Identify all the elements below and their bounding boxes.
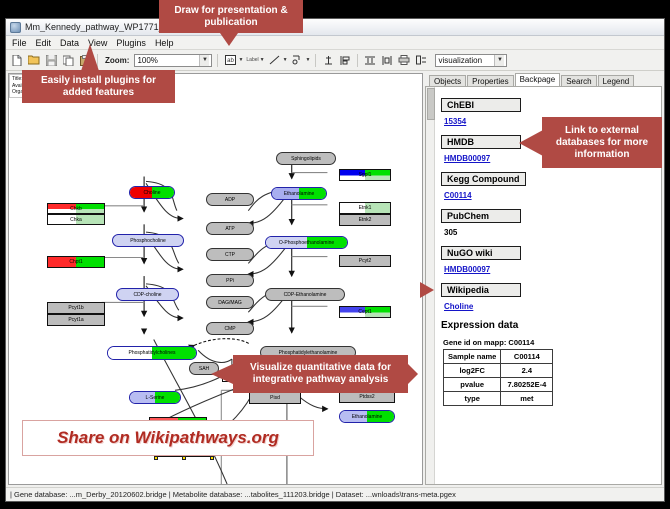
selection-handle[interactable]: [210, 456, 214, 460]
label-box-icon[interactable]: ab: [223, 53, 237, 67]
node-label: CTP: [207, 252, 253, 258]
tab-properties[interactable]: Properties: [467, 75, 513, 86]
node-pcyt2[interactable]: Pcyt2: [339, 255, 391, 267]
annotation-link-pointer: [519, 130, 543, 156]
annotation-expression-pointer: [420, 282, 434, 298]
new-file-icon[interactable]: [10, 53, 24, 67]
node-label: Etnk1: [340, 205, 390, 211]
node-label: Sphingolipids: [277, 156, 335, 162]
db-header-wikipedia: Wikipedia: [441, 283, 521, 297]
node-phosphocholine[interactable]: Phosphocholine: [112, 234, 184, 247]
chevron-down-icon[interactable]: ▼: [260, 57, 265, 63]
db-link-nugo-wiki[interactable]: HMDB00097: [444, 265, 655, 274]
node-label: ATP: [207, 226, 253, 232]
title-bar: Mm_Kennedy_pathway_WP1771_45176.gpml: [6, 19, 664, 36]
menu-item-plugins[interactable]: Plugins: [116, 38, 146, 48]
node-o-phosphoethanolamine[interactable]: O-Phosphoethanolamine: [265, 236, 348, 249]
tab-objects[interactable]: Objects: [429, 75, 466, 86]
node-sgpl1[interactable]: Sgpl1: [339, 169, 391, 181]
node-ppi[interactable]: PPi: [206, 274, 254, 287]
node-pcyt1b[interactable]: Pcyt1b: [47, 302, 105, 314]
db-value-pubchem: 305: [444, 228, 655, 237]
node-label: O-Phosphoethanolamine: [266, 240, 347, 246]
node-label: Pcyt1a: [48, 317, 104, 323]
node-label: Pcyt2: [340, 258, 390, 264]
chevron-down-icon[interactable]: ▼: [494, 55, 504, 66]
save-icon[interactable]: [44, 53, 58, 67]
interaction-icon[interactable]: [291, 53, 305, 67]
node-label: Choline: [130, 190, 174, 196]
db-header-pubchem: PubChem: [441, 209, 521, 223]
node-cept1[interactable]: Cept1: [339, 306, 391, 318]
node-label: Pcyt1b: [48, 305, 104, 311]
zoom-label: Zoom:: [105, 56, 129, 65]
distribute-vertical-icon[interactable]: [363, 53, 377, 67]
tab-search[interactable]: Search: [561, 75, 596, 86]
status-bar: | Gene database: ...m_Derby_20120602.bri…: [6, 487, 664, 501]
node-label: CMP: [207, 326, 253, 332]
node-label: Sgpl1: [340, 172, 390, 178]
node-cdp-choline[interactable]: CDP-choline: [116, 288, 179, 301]
chevron-down-icon[interactable]: ▼: [306, 57, 311, 63]
node-label: ADP: [207, 197, 253, 203]
open-folder-icon[interactable]: [27, 53, 41, 67]
annotation-plugins-pointer: [81, 44, 99, 71]
node-chpt1[interactable]: Chpt1: [47, 256, 105, 268]
toolbar-separator: [217, 54, 218, 67]
distribute-horizontal-icon[interactable]: [380, 53, 394, 67]
node-label: CDP-Ethanolamine: [266, 292, 344, 298]
node-label: PPi: [207, 278, 253, 284]
node-adp[interactable]: ADP: [206, 193, 254, 206]
layout-icon[interactable]: [414, 53, 428, 67]
selection-handle[interactable]: [154, 456, 158, 460]
annotation-link: Link to external databases for more info…: [542, 117, 662, 168]
node-pcyt1a[interactable]: Pcyt1a: [47, 314, 105, 326]
db-header-kegg-compound: Kegg Compound: [441, 172, 526, 186]
node-label: CDP-choline: [117, 292, 178, 298]
annotation-share: Share on Wikipathways.org: [22, 420, 314, 456]
node-ethanolamine-bottom[interactable]: Ethanolamine: [339, 410, 395, 423]
annotation-visualize: Visualize quantitative data for integrat…: [233, 355, 408, 393]
cell-label: log2FC: [444, 364, 501, 378]
app-icon: [10, 22, 21, 33]
db-link-kegg-compound[interactable]: C00114: [444, 191, 655, 200]
selection-handle[interactable]: [182, 456, 186, 460]
node-etnk2[interactable]: Etnk2: [339, 214, 391, 226]
node-cdp-ethanolamine[interactable]: CDP-Ethanolamine: [265, 288, 345, 301]
expression-data-title: Expression data: [441, 320, 655, 331]
annotation-visualize-pointer: [211, 364, 233, 384]
status-text: | Gene database: ...m_Derby_20120602.bri…: [10, 490, 456, 499]
node-label: Etnk2: [340, 217, 390, 223]
annotation-plugins: Easily install plugins for added feature…: [22, 70, 175, 103]
node-choline-top[interactable]: Choline: [129, 186, 175, 199]
cell-label: pvalue: [444, 378, 501, 392]
cell-value: C00114: [501, 350, 553, 364]
expression-table: Sample name C00114 log2FC 2.4 pvalue 7.8…: [443, 349, 553, 406]
anchor-icon[interactable]: [321, 53, 335, 67]
menu-item-help[interactable]: Help: [155, 38, 174, 48]
node-label: Ethanolamine: [340, 414, 394, 420]
table-row: type met: [444, 392, 553, 406]
line-icon[interactable]: [268, 53, 282, 67]
svg-text:ab: ab: [227, 58, 234, 64]
shape-tool[interactable]: ab ▼: [223, 53, 243, 67]
node-label: Ptdss2: [340, 394, 394, 400]
table-row: Sample name C00114: [444, 350, 553, 364]
label-text-icon: Label: [246, 57, 258, 63]
menu-bar: File Edit Data View Plugins Help: [6, 36, 664, 50]
zoom-value: 100%: [137, 56, 199, 65]
node-label: Phosphocholine: [113, 238, 183, 244]
interaction-tool[interactable]: ▼: [291, 53, 311, 67]
cell-value: 7.80252E-4: [501, 378, 553, 392]
cell-value: met: [501, 392, 553, 406]
db-header-chebi: ChEBI: [441, 98, 521, 112]
tab-backpage[interactable]: Backpage: [515, 73, 561, 86]
align-left-icon[interactable]: [338, 53, 352, 67]
sidebar-tabs: Objects Properties Backpage Search Legen…: [425, 73, 662, 86]
label-tool[interactable]: Label ▼: [246, 57, 264, 63]
node-pisd[interactable]: Pisd: [249, 392, 301, 404]
visualization-combo[interactable]: visualization ▼: [435, 54, 507, 67]
toolbar-separator: [357, 54, 358, 67]
chevron-down-icon[interactable]: ▼: [283, 57, 288, 63]
menu-item-data[interactable]: Data: [60, 38, 79, 48]
node-label: Cept1: [340, 309, 390, 315]
annotation-draw-pointer: [220, 33, 238, 46]
db-header-nugo-wiki: NuGO wiki: [441, 246, 521, 260]
menu-item-file[interactable]: File: [12, 38, 27, 48]
node-cmp[interactable]: CMP: [206, 322, 254, 335]
table-row: log2FC 2.4: [444, 364, 553, 378]
visualization-value: visualization: [438, 56, 494, 65]
cell-label: type: [444, 392, 501, 406]
annotation-draw: Draw for presentation & publication: [159, 0, 303, 33]
tab-legend[interactable]: Legend: [598, 75, 635, 86]
toolbar-separator: [315, 54, 316, 67]
node-label: DAG/MAG: [207, 300, 253, 306]
node-label: Pisd: [250, 395, 300, 401]
node-etnk1[interactable]: Etnk1: [339, 202, 391, 214]
cell-value: 2.4: [501, 364, 553, 378]
gene-id-line: Gene id on mapp: C00114: [443, 338, 655, 347]
annotation-visualize-pointer-right: [408, 364, 418, 384]
db-header-hmdb: HMDB: [441, 135, 521, 149]
table-row: pvalue 7.80252E-4: [444, 378, 553, 392]
node-chka[interactable]: Chka: [47, 214, 105, 225]
toolbar: Zoom: 100% ▼ ab ▼ Label ▼ ▼ ▼: [6, 50, 664, 71]
cell-label: Sample name: [444, 350, 501, 364]
node-sphingolipids[interactable]: Sphingolipids: [276, 152, 336, 165]
menu-item-edit[interactable]: Edit: [36, 38, 52, 48]
node-phosphatidylcholines[interactable]: Phosphatidylcholines: [107, 346, 197, 360]
node-label: L-Serine: [130, 395, 180, 401]
node-label: Chpt1: [48, 259, 104, 265]
node-label: Ethanolamine: [272, 191, 326, 197]
node-label: Chkb: [48, 206, 104, 212]
node-ctp[interactable]: CTP: [206, 248, 254, 261]
line-tool[interactable]: ▼: [268, 53, 288, 67]
node-label: Phosphatidylcholines: [108, 350, 196, 356]
node-l-serine-left[interactable]: L-Serine: [129, 391, 181, 404]
db-link-wikipedia[interactable]: Choline: [444, 302, 655, 311]
chevron-down-icon[interactable]: ▼: [199, 55, 209, 66]
node-label: Chka: [48, 217, 104, 223]
node-dagmag[interactable]: DAG/MAG: [206, 296, 254, 309]
chevron-down-icon[interactable]: ▼: [238, 57, 243, 63]
zoom-combo[interactable]: 100% ▼: [134, 54, 212, 67]
print-icon[interactable]: [397, 53, 411, 67]
copy-icon[interactable]: [61, 53, 75, 67]
node-ethanolamine-top[interactable]: Ethanolamine: [271, 187, 327, 200]
node-chkb[interactable]: Chkb: [47, 203, 105, 214]
node-atp[interactable]: ATP: [206, 222, 254, 235]
